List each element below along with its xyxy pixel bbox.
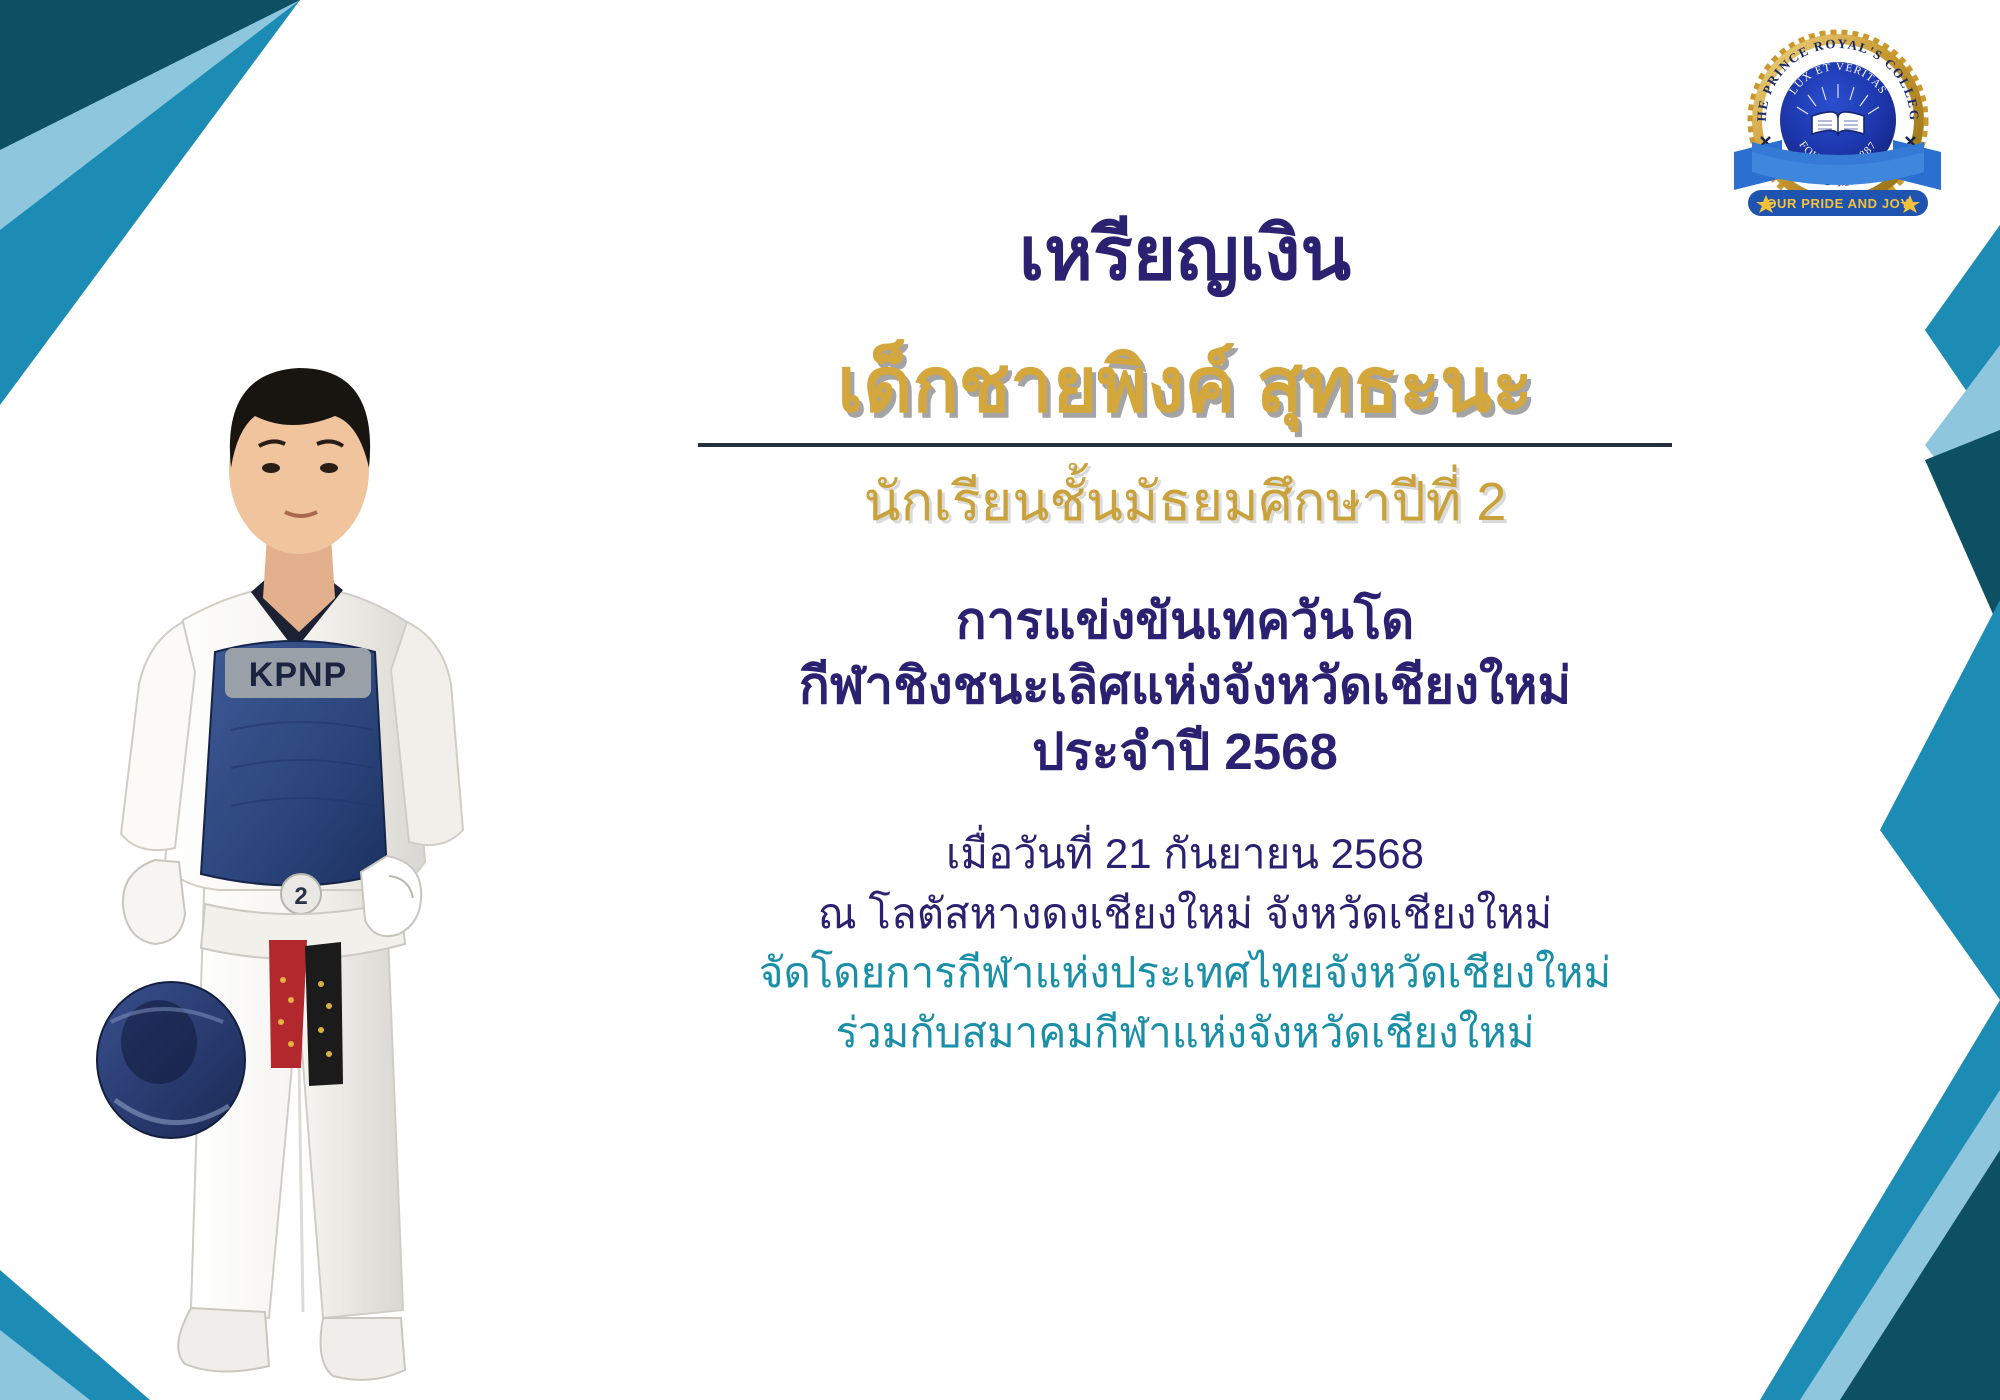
deco-shape-top-left-deep bbox=[0, 0, 300, 330]
poster-content: เหรียญเงิน เด็กชายพิงค์ สุทธะนะ นักเรียน… bbox=[690, 215, 1680, 1062]
event-title: การแข่งขันเทควันโด กีฬาชิงชนะเลิศแห่งจัง… bbox=[690, 588, 1680, 784]
crest-banner: OUR PRIDE AND JOY bbox=[1748, 190, 1928, 216]
deco-shape-right-chevron-deep bbox=[1925, 430, 2000, 630]
athlete-shoe-left bbox=[178, 1308, 269, 1372]
athlete-glove-left bbox=[123, 860, 185, 944]
deco-shape-top-left-light bbox=[0, 0, 300, 290]
event-detail-organizer: จัดโดยการกีฬาแห่งประเทศไทยจังหวัดเชียงให… bbox=[690, 943, 1680, 1003]
athlete-belt-tail-black bbox=[305, 942, 343, 1086]
athlete-chest-guard-brand: KPNP bbox=[249, 656, 347, 694]
event-title-line-2: กีฬาชิงชนะเลิศแห่งจังหวัดเชียงใหม่ bbox=[690, 653, 1680, 718]
deco-shape-right-chevron-light bbox=[1925, 345, 2000, 545]
deco-shape-right-chevron-mid bbox=[1925, 225, 2000, 440]
deco-shape-bottom-right-light bbox=[1800, 1090, 2000, 1400]
event-title-line-3: ประจำปี 2568 bbox=[690, 719, 1680, 784]
poster-root: THE PRINCE ROYAL'S COLLEGE CHIANG MAI 19… bbox=[0, 0, 2000, 1400]
medal-title: เหรียญเงิน bbox=[690, 215, 1680, 293]
deco-shape-bottom-right-deep bbox=[1840, 1150, 2000, 1400]
name-divider bbox=[698, 443, 1672, 447]
deco-shape-right-mid-upper bbox=[1925, 225, 2000, 440]
athlete-shoe-right bbox=[321, 1318, 405, 1380]
event-detail-venue: ณ โลตัสหางดงเชียงใหม่ จังหวัดเชียงใหม่ bbox=[690, 884, 1680, 944]
crest-banner-label: OUR PRIDE AND JOY bbox=[1766, 196, 1909, 211]
student-grade: นักเรียนชั้นมัธยมศึกษาปีที่ 2 bbox=[690, 473, 1680, 532]
event-title-line-1: การแข่งขันเทควันโด bbox=[690, 588, 1680, 653]
event-details: เมื่อวันที่ 21 กันยายน 2568 ณ โลตัสหางดง… bbox=[690, 824, 1680, 1063]
deco-shape-bottom-right-mid bbox=[1760, 1000, 2000, 1400]
student-name: เด็กชายพิงค์ สุทธะนะ bbox=[690, 345, 1680, 427]
deco-shape-right-chevron-mid2 bbox=[1880, 600, 2000, 1000]
athlete-belt-tail-red bbox=[269, 940, 307, 1068]
school-crest: THE PRINCE ROYAL'S COLLEGE CHIANG MAI 19… bbox=[1730, 12, 1945, 222]
event-detail-date: เมื่อวันที่ 21 กันยายน 2568 bbox=[690, 824, 1680, 884]
event-detail-co-organizer: ร่วมกับสมาคมกีฬาแห่งจังหวัดเชียงใหม่ bbox=[690, 1003, 1680, 1063]
athlete-photo: KPNP 2 bbox=[55, 300, 525, 1400]
athlete-head-guard bbox=[97, 982, 245, 1138]
athlete-chest-guard-number: 2 bbox=[294, 883, 307, 910]
